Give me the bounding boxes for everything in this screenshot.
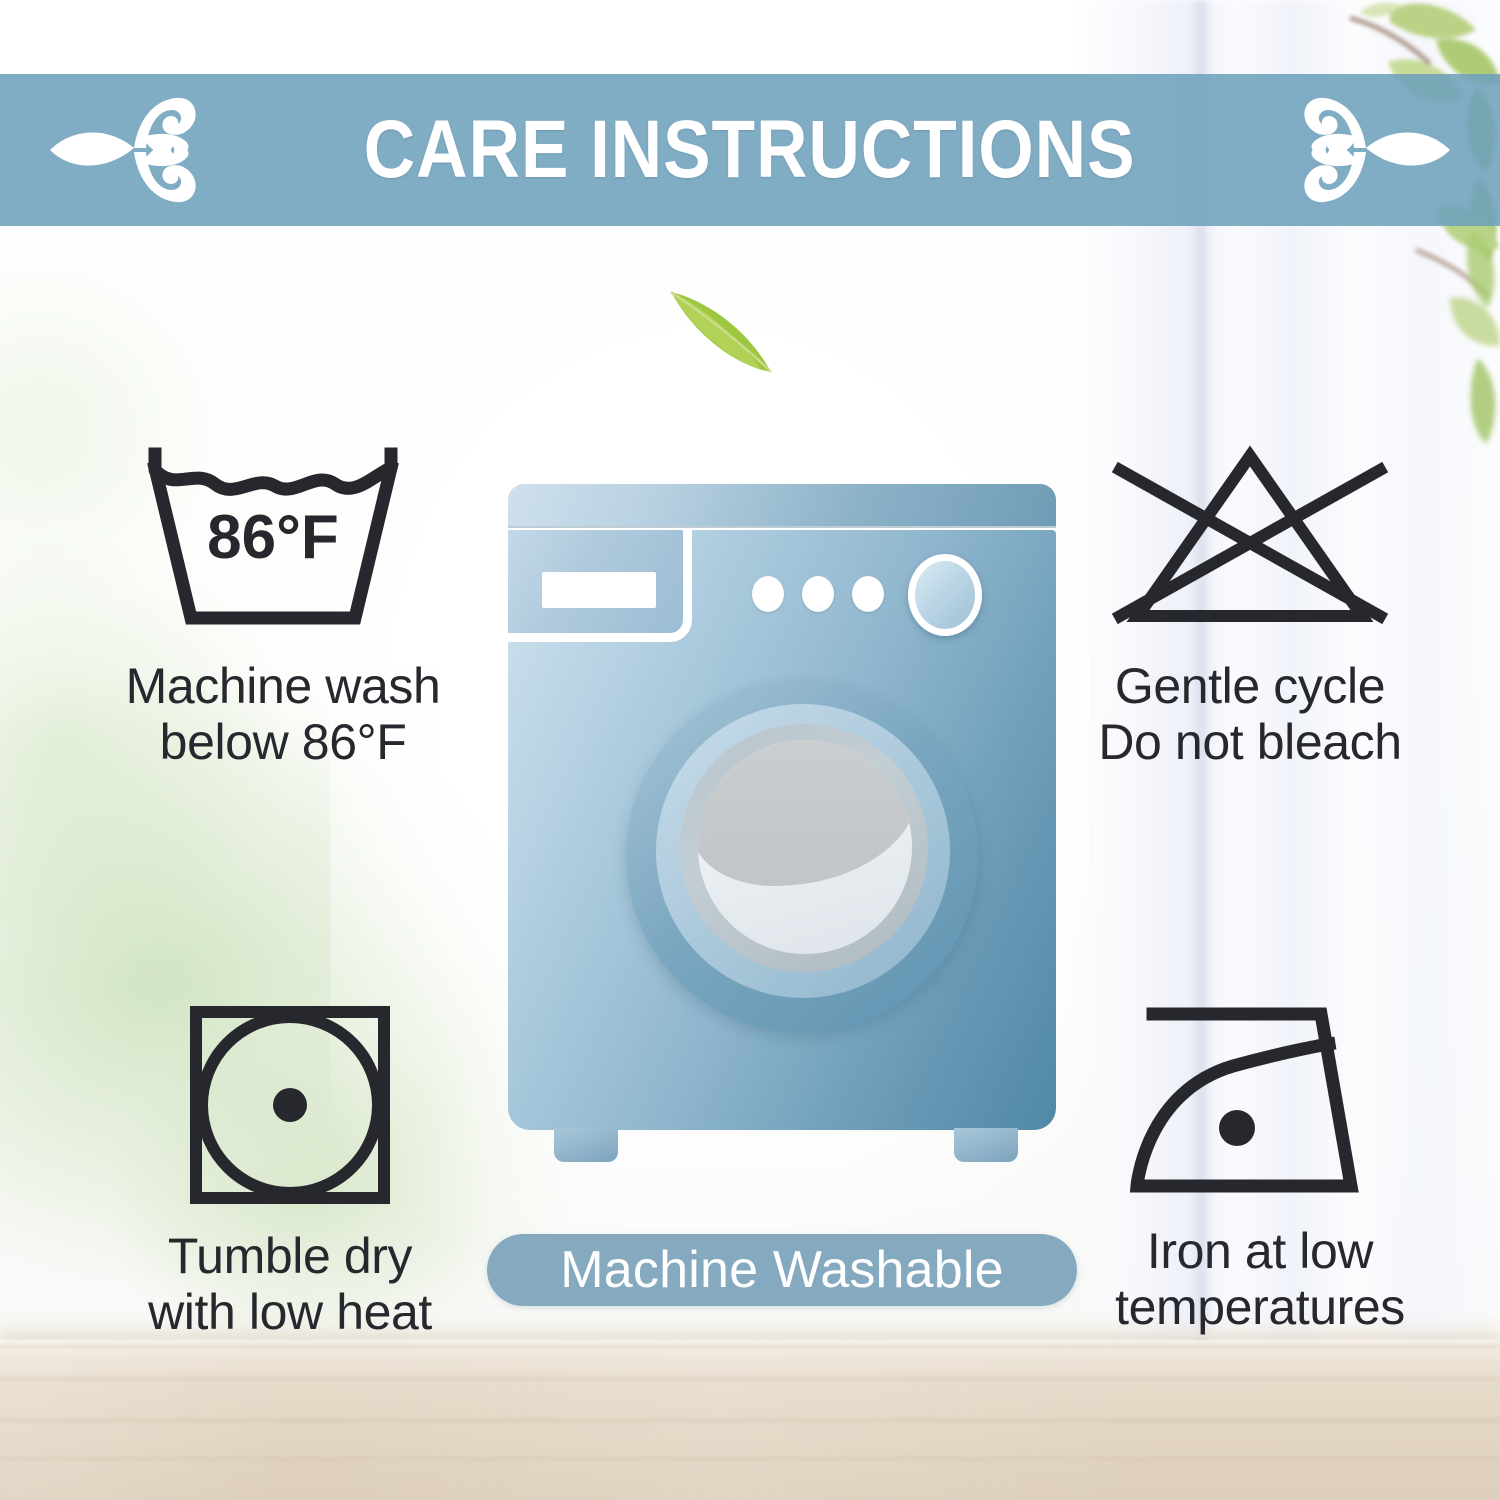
detergent-drawer-slot [542,572,656,608]
care-caption-iron: Iron at low temperatures [1115,1223,1405,1335]
machine-washable-badge: Machine Washable [487,1234,1077,1306]
machine-door-rim [680,724,928,972]
tumble-dry-icon [180,1000,400,1210]
indicator-light-1 [752,576,784,612]
machine-washable-badge-label: Machine Washable [560,1240,1004,1300]
care-item-machine-wash: 86°F Machine wash below 86°F [48,440,518,770]
no-bleach-triangle-icon [1100,440,1400,640]
care-caption-machine-wash: Machine wash below 86°F [126,658,441,770]
indicator-light-2 [802,576,834,612]
control-knob [908,554,982,636]
indicator-light-3 [852,576,884,612]
wooden-table-surface [0,1340,1500,1500]
machine-foot-left [554,1128,618,1162]
machine-door-outer-ring [626,680,978,1032]
iron-icon [1115,1000,1405,1205]
washing-machine-illustration [504,484,1060,1174]
door-glass-reflection [698,740,912,886]
care-caption-no-bleach: Gentle cycle Do not bleach [1098,658,1401,770]
detergent-drawer [508,530,692,642]
care-item-tumble-dry: Tumble dry with low heat [60,1000,520,1340]
wash-temperature-label: 86°F [207,503,339,572]
machine-foot-right [954,1128,1018,1162]
fleur-de-lis-icon-left [50,90,200,210]
machine-top-panel [508,484,1056,526]
header-banner: CARE INSTRUCTIONS [0,74,1500,226]
wash-tub-icon: 86°F [133,440,433,640]
care-caption-tumble-dry: Tumble dry with low heat [148,1228,432,1340]
machine-door-inner-ring [656,704,950,998]
page-title: CARE INSTRUCTIONS [364,109,1136,191]
wood-grain-texture [0,1340,1500,1500]
machine-body [508,530,1056,1130]
floating-leaf-icon [665,286,783,382]
care-instructions-infographic: CARE INSTRUCTIONS 86°F Machine wash belo… [0,0,1500,1500]
machine-door-glass [698,740,912,954]
fleur-de-lis-icon-right [1300,90,1450,210]
care-item-no-bleach: Gentle cycle Do not bleach [1020,440,1480,770]
care-item-iron: Iron at low temperatures [1030,1000,1490,1335]
